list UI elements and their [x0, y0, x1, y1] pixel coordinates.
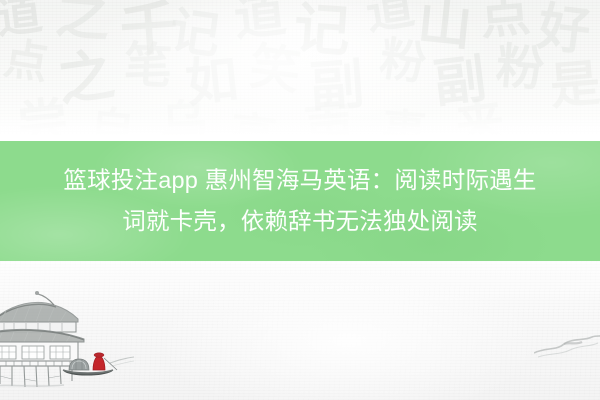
boat-illustration [60, 349, 134, 383]
calligraphy-glyph: 点 [1, 37, 51, 87]
distant-ink-mark [534, 331, 600, 367]
banner-image: 道 之 千 记 道 记 道 山 点 好 点 之 笔 如 笑 副 粉 副 粉 是 … [0, 0, 600, 400]
calligraphy-glyph: 点 [478, 0, 532, 42]
calligraphy-glyph: 笔 [123, 41, 173, 91]
calligraphy-glyph: 粉 [377, 35, 429, 87]
calligraphy-glyph: 是 [548, 58, 600, 112]
calligraphy-glyph: 之 [54, 0, 113, 44]
banner-headline: 篮球投注app 惠州智海马英语：阅读时际遇生 词就卡壳，依赖辞书无法独处阅读 [17, 160, 583, 242]
title-band: 篮球投注app 惠州智海马英语：阅读时际遇生 词就卡壳，依赖辞书无法独处阅读 [0, 141, 600, 261]
headline-line-2: 词就卡壳，依赖辞书无法独处阅读 [17, 201, 583, 242]
calligraphy-paper-background: 道 之 千 记 道 记 道 山 点 好 点 之 笔 如 笑 副 粉 副 粉 是 … [0, 0, 600, 141]
headline-line-1: 篮球投注app 惠州智海马英语：阅读时际遇生 [17, 160, 583, 201]
calligraphy-glyph: 粉 [494, 42, 546, 94]
calligraphy-glyph: 笑 [247, 41, 303, 97]
top-panel-bottom-fade [0, 115, 600, 141]
ink-wash-lake-scene [0, 261, 600, 400]
